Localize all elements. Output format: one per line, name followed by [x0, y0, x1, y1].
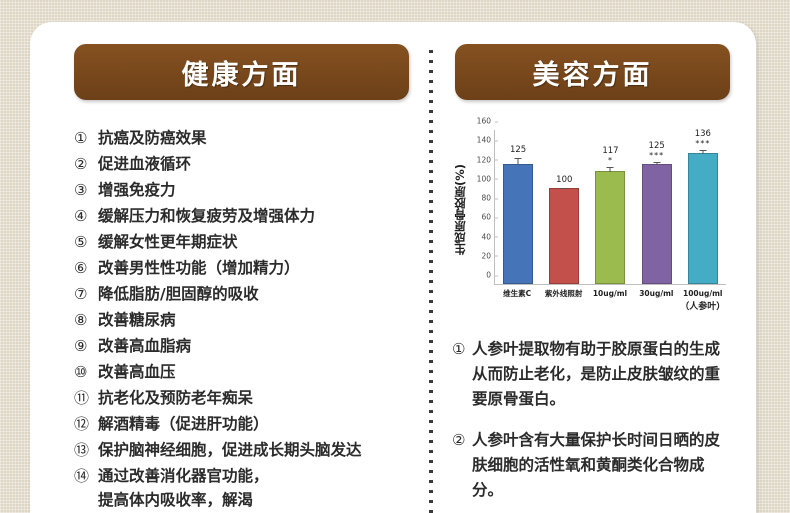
list-item-number: ④: [74, 204, 98, 228]
chart-y-tick: 140: [477, 136, 495, 145]
chart-x-tick-text: 维生素C: [503, 289, 531, 298]
chart-y-axis-title: 生成原骨胶原(%): [451, 134, 469, 284]
list-item-number: ⑤: [74, 230, 98, 254]
list-item-label: 增强免疫力: [98, 178, 176, 202]
list-item: ⑨改善高血脂病: [74, 334, 414, 358]
chart-y-tick: 160: [477, 117, 495, 126]
chart-y-tick: 0: [486, 271, 495, 280]
health-column: 健康方面 ①抗癌及防癌效果②促进血液循环③增强免疫力④缓解压力和恢复疲劳及增强体…: [62, 32, 414, 513]
list-item-label: 人参叶提取物有助于胶原蛋白的生成从而防止老化，是防止皮肤皱纹的重要原骨蛋白。: [472, 337, 726, 412]
beauty-notes-list: ①人参叶提取物有助于胶原蛋白的生成从而防止老化，是防止皮肤皱纹的重要原骨蛋白。②…: [452, 337, 726, 503]
chart-bar-group: 100: [549, 130, 579, 284]
chart-error-bar: [610, 167, 611, 173]
chart-x-tick-label: 维生素C: [494, 288, 540, 313]
chart-error-bar: [656, 162, 657, 165]
chart-y-tick: 20: [481, 251, 495, 260]
list-item-label: 改善高血脂病: [98, 334, 191, 358]
chart-x-tick-text: 10ug/ml: [593, 289, 627, 298]
chart-bar-value-label: 117: [602, 146, 618, 156]
chart-y-tick: 100: [477, 174, 495, 183]
chart-y-tick: 60: [481, 213, 495, 222]
chart-error-bar: [564, 188, 565, 189]
list-item: ⑤缓解女性更年期症状: [74, 230, 414, 254]
content-card: 健康方面 ①抗癌及防癌效果②促进血液循环③增强免疫力④缓解压力和恢复疲劳及增强体…: [30, 22, 756, 513]
list-item-label: 通过改善消化器官功能，提高体内吸收率，解渴: [98, 464, 269, 512]
chart-x-tick-sublabel: （人参叶）: [680, 302, 726, 313]
list-item-number: ①: [452, 337, 472, 362]
chart-bar-value-label: 100: [556, 175, 572, 185]
list-item: ⑦降低脂肪/胆固醇的吸收: [74, 282, 414, 306]
chart-bar: ***136: [688, 153, 718, 284]
beauty-header-label: 美容方面: [533, 53, 653, 92]
list-item: ③增强免疫力: [74, 178, 414, 202]
list-item-number: ⑦: [74, 282, 98, 306]
chart-bars: 125100*117***125***136: [495, 130, 726, 284]
list-item-label-line2: 提高体内吸收率，解渴: [98, 488, 269, 512]
collagen-bar-chart: 生成原骨胶原(%) 125100*117***125***136 0204060…: [452, 122, 737, 317]
list-item-label: 抗老化及预防老年痴呆: [98, 386, 253, 410]
chart-bar: 100: [549, 188, 579, 284]
health-benefit-list: ①抗癌及防癌效果②促进血液循环③增强免疫力④缓解压力和恢复疲劳及增强体力⑤缓解女…: [62, 126, 414, 512]
list-item-number: ②: [74, 152, 98, 176]
list-item-label: 改善糖尿病: [98, 308, 176, 332]
list-item-label: 改善高血压: [98, 360, 176, 384]
chart-plot-area: 125100*117***125***136 02040608010012014…: [494, 130, 726, 285]
list-item-label: 改善男性性功能（增加精力）: [98, 256, 300, 280]
list-item: ⑩改善高血压: [74, 360, 414, 384]
chart-error-bar: [518, 158, 519, 165]
list-item: ②促进血液循环: [74, 152, 414, 176]
chart-x-tick-text: 紫外线照射: [545, 289, 583, 298]
health-section-header: 健康方面: [74, 44, 409, 100]
list-item: ②人参叶含有大量保护长时间日晒的皮肤细胞的活性氧和黄酮类化合物成分。: [452, 428, 726, 503]
chart-bar-value-label: 125: [649, 141, 665, 151]
list-item-number: ⑭: [74, 464, 98, 488]
list-item-label: 保护脑神经细胞，促进成长期头脑发达: [98, 438, 362, 462]
beauty-section-header: 美容方面: [455, 44, 730, 100]
list-item-number: ⑫: [74, 412, 98, 436]
chart-x-tick-label: 10ug/ml: [587, 288, 633, 313]
chart-x-tick-text: 100ug/ml: [683, 289, 723, 298]
list-item-number: ②: [452, 428, 472, 453]
chart-error-bar: [702, 150, 703, 154]
list-item-label: 解酒精毒（促进肝功能）: [98, 412, 269, 436]
chart-bar-group: *117: [595, 130, 625, 284]
list-item-number: ⑩: [74, 360, 98, 384]
chart-bar-group: ***136: [688, 130, 718, 284]
list-item: ⑬保护脑神经细胞，促进成长期头脑发达: [74, 438, 414, 462]
list-item-number: ③: [74, 178, 98, 202]
list-item-number: ⑬: [74, 438, 98, 462]
list-item: ⑪抗老化及预防老年痴呆: [74, 386, 414, 410]
chart-significance-marker: ***: [695, 139, 710, 148]
list-item-number: ①: [74, 126, 98, 150]
list-item-number: ⑪: [74, 386, 98, 410]
list-item-label: 抗癌及防癌效果: [98, 126, 207, 150]
list-item-label: 缓解压力和恢复疲劳及增强体力: [98, 204, 315, 228]
chart-x-axis-labels: 维生素C紫外线照射10ug/ml30ug/ml100ug/ml（人参叶）: [494, 288, 726, 313]
chart-y-tick: 120: [477, 155, 495, 164]
chart-bar-group: 125: [503, 130, 533, 284]
chart-bar: *117: [595, 171, 625, 284]
list-item: ⑭通过改善消化器官功能，提高体内吸收率，解渴: [74, 464, 414, 512]
chart-y-tick: 40: [481, 232, 495, 241]
chart-bar-group: ***125: [642, 130, 672, 284]
chart-x-tick-label: 紫外线照射: [541, 288, 587, 313]
chart-bar-value-label: 136: [695, 129, 711, 139]
chart-significance-marker: *: [608, 156, 613, 165]
health-header-label: 健康方面: [182, 53, 302, 92]
list-item: ⑥改善男性性功能（增加精力）: [74, 256, 414, 280]
beauty-column: 美容方面 生成原骨胶原(%) 125100*117***125***136 02…: [430, 32, 740, 513]
list-item-label: 人参叶含有大量保护长时间日晒的皮肤细胞的活性氧和黄酮类化合物成分。: [472, 428, 726, 503]
list-item: ④缓解压力和恢复疲劳及增强体力: [74, 204, 414, 228]
list-item-number: ⑥: [74, 256, 98, 280]
list-item-number: ⑨: [74, 334, 98, 358]
list-item-number: ⑧: [74, 308, 98, 332]
chart-x-tick-label: 100ug/ml（人参叶）: [680, 288, 726, 313]
list-item-label: 降低脂肪/胆固醇的吸收: [98, 282, 259, 306]
chart-x-tick-label: 30ug/ml: [633, 288, 679, 313]
list-item-label: 促进血液循环: [98, 152, 191, 176]
chart-x-tick-text: 30ug/ml: [639, 289, 673, 298]
chart-significance-marker: ***: [649, 151, 664, 160]
chart-y-tick: 80: [481, 194, 495, 203]
chart-bar: ***125: [642, 164, 672, 284]
list-item: ⑧改善糖尿病: [74, 308, 414, 332]
list-item-label: 缓解女性更年期症状: [98, 230, 238, 254]
list-item: ①人参叶提取物有助于胶原蛋白的生成从而防止老化，是防止皮肤皱纹的重要原骨蛋白。: [452, 337, 726, 412]
chart-bar: 125: [503, 164, 533, 284]
list-item: ⑫解酒精毒（促进肝功能）: [74, 412, 414, 436]
chart-bar-value-label: 125: [510, 145, 526, 155]
list-item: ①抗癌及防癌效果: [74, 126, 414, 150]
